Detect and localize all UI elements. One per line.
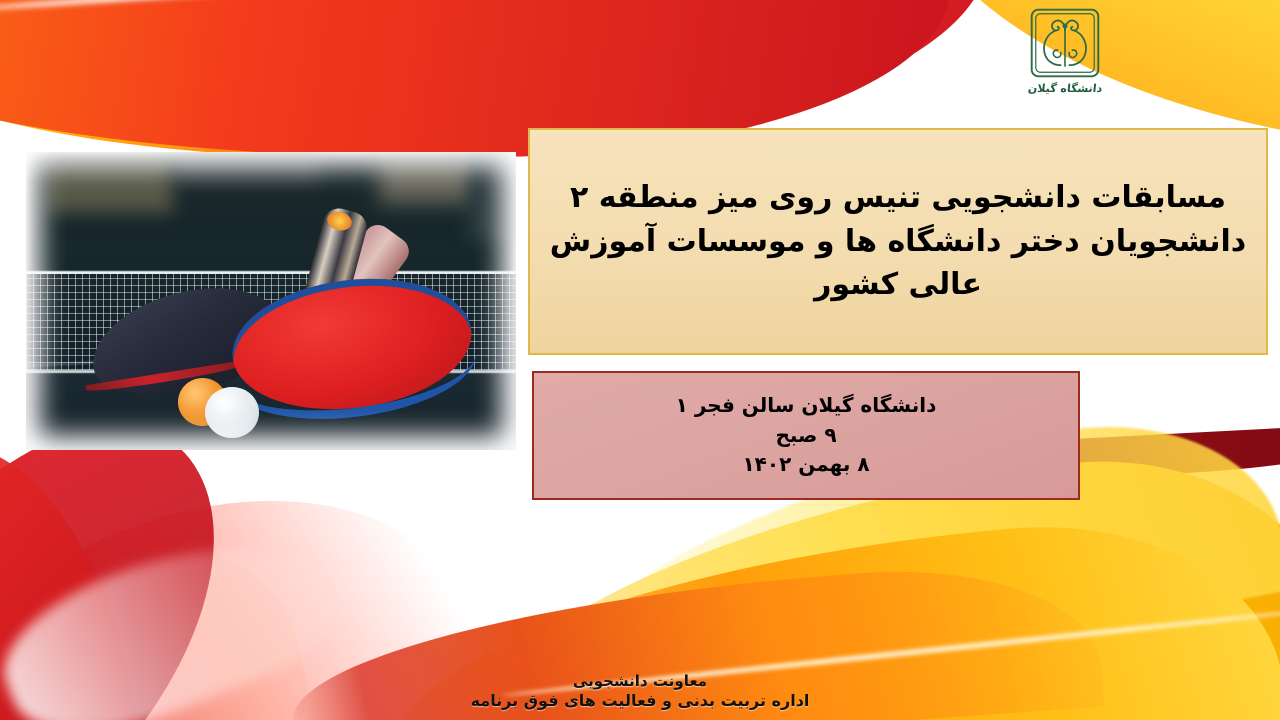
title-box: مسابقات دانشجویی تنیس روی میز منطقه ۲ دا… xyxy=(528,128,1268,355)
university-logo: دانشگاه گیلان xyxy=(1017,6,1113,110)
photo-vignette xyxy=(26,152,516,450)
poster-title: مسابقات دانشجویی تنیس روی میز منطقه ۲ دا… xyxy=(530,176,1266,307)
event-details-box: دانشگاه گیلان سالن فجر ۱ ۹ صبح ۸ بهمن ۱۴… xyxy=(532,371,1080,500)
footer-department: اداره تربیت بدنی و فعالیت های فوق برنامه xyxy=(0,691,1280,712)
event-venue: دانشگاه گیلان سالن فجر ۱ xyxy=(676,391,937,421)
poster-canvas: مسابقات دانشجویی تنیس روی میز منطقه ۲ دا… xyxy=(0,0,1280,720)
ribbon-highlight xyxy=(0,0,939,14)
poster-footer: معاونت دانشجویی اداره تربیت بدنی و فعالی… xyxy=(0,672,1280,712)
table-tennis-photo xyxy=(26,152,516,450)
event-date: ۸ بهمن ۱۴۰۲ xyxy=(742,450,869,480)
event-time: ۹ صبح xyxy=(775,421,836,451)
university-of-gilan-emblem-icon xyxy=(1028,6,1102,80)
university-logo-caption: دانشگاه گیلان xyxy=(1027,82,1103,95)
footer-organization: معاونت دانشجویی xyxy=(0,672,1280,692)
